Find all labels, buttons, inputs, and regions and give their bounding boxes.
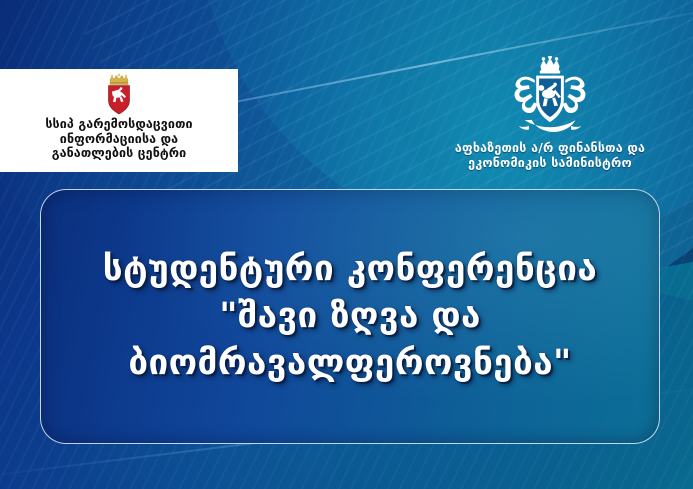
ministry-name-text: აფხაზეთის ა/რ ფინანსთა და ეკონომიკის სამ… [455, 140, 645, 170]
ministry-name-line-1: აფხაზეთის ა/რ ფინანსთა და [455, 140, 645, 155]
left-logo-line-1: სსიპ გარემოსდაცვითი [14, 117, 224, 132]
ministry-name-line-2: ეკონომიკის სამინისტრო [455, 155, 645, 170]
georgia-full-coat-of-arms-icon [495, 56, 605, 136]
conference-title-card: სტუდენტური კონფერენცია "შავი ზღვა და ბიო… [40, 189, 660, 444]
conference-title-text: სტუდენტური კონფერენცია "შავი ზღვა და ბიო… [85, 246, 615, 387]
conference-poster: სსიპ გარემოსდაცვითი ინფორმაციისა და განა… [0, 0, 693, 489]
left-logo-box: სსიპ გარემოსდაცვითი ინფორმაციისა და განა… [0, 69, 238, 172]
left-logo-text: სსიპ გარემოსდაცვითი ინფორმაციისა და განა… [14, 117, 224, 161]
georgia-small-coat-of-arms-icon [104, 73, 134, 115]
right-ministry-block: აფხაზეთის ა/რ ფინანსთა და ეკონომიკის სამ… [425, 56, 675, 170]
conference-title-line-2: "შავი ზღვა და [103, 293, 597, 340]
conference-title-line-1: სტუდენტური კონფერენცია [103, 246, 597, 293]
left-logo-line-3: განათლების ცენტრი [14, 146, 224, 161]
conference-title-line-3: ბიომრავალფეროვნება" [103, 340, 597, 387]
left-logo-line-2: ინფორმაციისა და [14, 132, 224, 147]
